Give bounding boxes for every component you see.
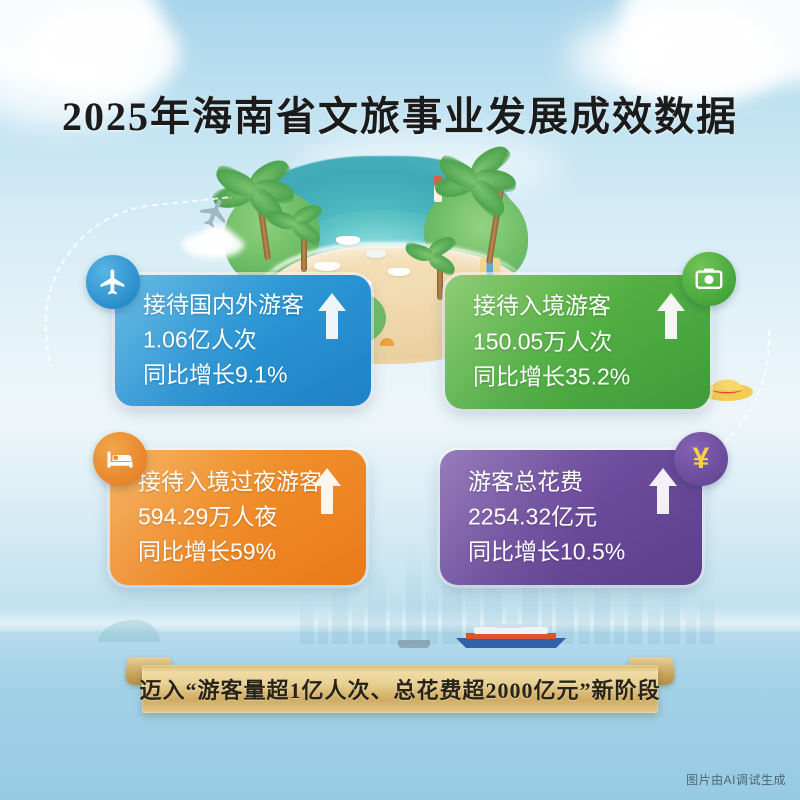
up-arrow-icon [648,468,678,514]
stat-label: 接待入境过夜游客 [138,465,322,500]
stat-card-domestic[interactable]: 接待国内外游客 1.06亿人次 同比增长9.1% [115,275,371,406]
camera-icon [682,252,736,306]
boat-shape [388,268,410,276]
beach-umbrella [380,338,394,346]
ribbon-banner: 迈入“游客量超1亿人次、总花费超2000亿元”新阶段 [118,655,682,721]
stat-growth: 同比增长10.5% [468,535,625,570]
stat-label: 游客总花费 [468,465,625,500]
ai-credit-text: 图片由AI调试生成 [686,771,786,788]
stat-value: 594.29万人夜 [138,500,322,535]
stat-growth: 同比增长9.1% [143,358,304,393]
stat-card-text: 游客总花费 2254.32亿元 同比增长10.5% [468,465,625,570]
stat-card-spending[interactable]: 游客总花费 2254.32亿元 同比增长10.5% [440,450,702,585]
yuan-glyph: ¥ [693,444,710,474]
page-title: 2025年海南省文旅事业发展成效数据 [0,84,800,142]
stat-card-inbound[interactable]: 接待入境游客 150.05万人次 同比增长35.2% [445,275,710,409]
stat-card-text: 接待入境游客 150.05万人次 同比增长35.2% [473,290,630,395]
palm-tree [276,208,326,272]
yuan-icon: ¥ [674,432,728,486]
stat-growth: 同比增长59% [138,535,322,570]
cloud-decoration [570,20,690,94]
stat-value: 2254.32亿元 [468,500,625,535]
up-arrow-icon [656,293,686,339]
cruise-ship [452,624,570,650]
stat-card-text: 接待入境过夜游客 594.29万人夜 同比增长59% [138,465,322,570]
bed-icon [93,432,147,486]
stat-label: 接待国内外游客 [143,288,304,323]
stat-value: 1.06亿人次 [143,323,304,358]
infographic-poster: 2025年海南省文旅事业发展成效数据 [0,0,800,800]
boat-shape [366,250,386,258]
stat-card-text: 接待国内外游客 1.06亿人次 同比增长9.1% [143,288,304,393]
boat-shape [336,236,360,245]
airplane-icon [86,255,140,309]
stat-growth: 同比增长35.2% [473,359,630,394]
up-arrow-icon [317,293,347,339]
stat-card-overnight[interactable]: 接待入境过夜游客 594.29万人夜 同比增长59% [110,450,366,585]
stat-value: 150.05万人次 [473,325,630,360]
cargo-ship [398,640,430,648]
up-arrow-icon [312,468,342,514]
stat-label: 接待入境游客 [473,290,630,325]
ribbon-text: 迈入“游客量超1亿人次、总花费超2000亿元”新阶段 [142,665,658,713]
